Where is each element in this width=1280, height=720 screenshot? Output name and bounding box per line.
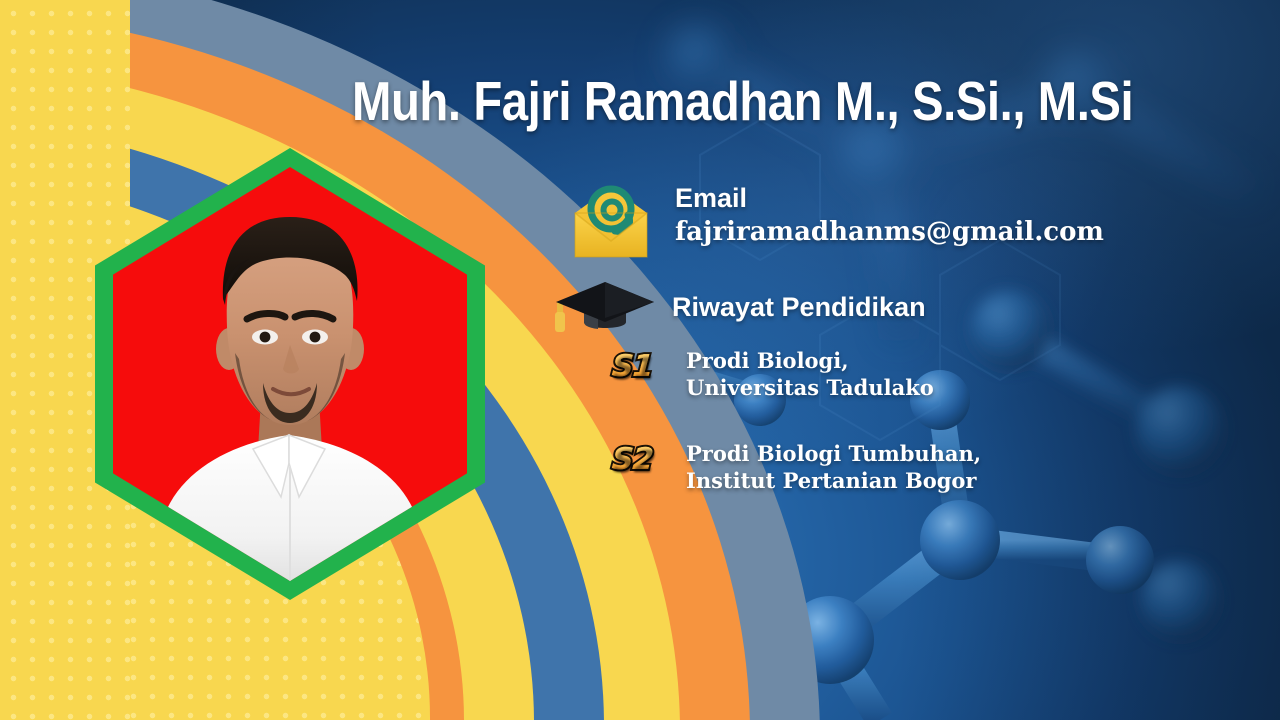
- email-text-block: Email fajriramadhanms@gmail.com: [675, 183, 1104, 249]
- email-row: Email fajriramadhanms@gmail.com: [565, 183, 1104, 261]
- education-heading: Riwayat Pendidikan: [672, 292, 926, 323]
- email-address[interactable]: fajriramadhanms@gmail.com: [675, 217, 1104, 249]
- page-title: Muh. Fajri Ramadhan M., S.Si., M.Si: [352, 72, 1109, 130]
- education-entry-s1: S1 S1 Prodi Biologi, Universitas Tadulak…: [612, 348, 934, 402]
- degree-badge-s2: S2 S2: [612, 441, 674, 481]
- education-entry-s2: S2 S2 Prodi Biologi Tumbuhan, Institut P…: [612, 441, 981, 495]
- envelope-at-icon: [565, 183, 657, 261]
- profile-slide: Muh. Fajri Ramadhan M., S.Si., M.Si: [0, 0, 1280, 720]
- education-entry-s1-text: Prodi Biologi, Universitas Tadulako: [686, 348, 934, 402]
- education-heading-row: Riwayat Pendidikan: [548, 276, 926, 338]
- education-entry-s2-text: Prodi Biologi Tumbuhan, Institut Pertani…: [686, 441, 981, 495]
- education-entry-s1-line2: Universitas Tadulako: [686, 375, 934, 402]
- education-entry-s2-line2: Institut Pertanian Bogor: [686, 468, 981, 495]
- email-label: Email: [675, 183, 1104, 215]
- education-entry-s1-line1: Prodi Biologi,: [686, 348, 934, 375]
- degree-badge-s1: S1 S1: [612, 348, 674, 388]
- avatar: [95, 148, 485, 600]
- degree-badge-s1-fill: S1: [611, 352, 654, 382]
- degree-badge-s2-fill: S2: [611, 445, 654, 475]
- graduation-cap-icon: [548, 276, 658, 338]
- education-entry-s2-line1: Prodi Biologi Tumbuhan,: [686, 441, 981, 468]
